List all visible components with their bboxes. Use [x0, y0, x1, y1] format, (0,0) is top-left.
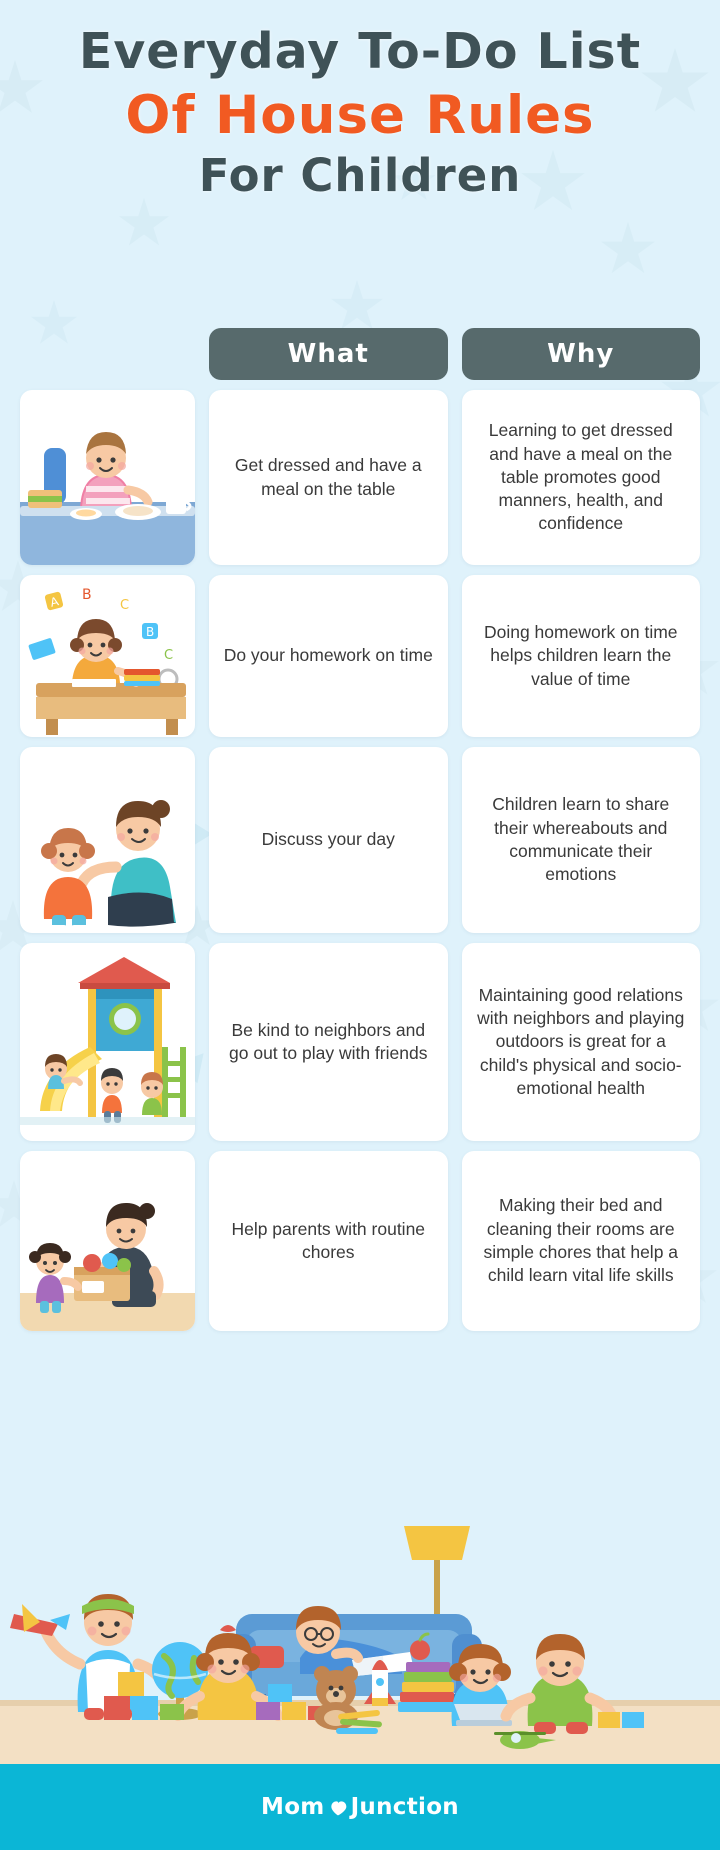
- title-line-2: Of House Rules: [0, 88, 720, 144]
- brand-name-part2: Junction: [351, 1794, 459, 1820]
- table-row: A B C B C: [0, 575, 720, 737]
- table-row: Get dressed and have a meal on the table…: [0, 390, 720, 565]
- children-playing-in-living-room-illustration: [0, 1464, 720, 1764]
- table-row: Be kind to neighbors and go out to play …: [0, 943, 720, 1141]
- row-illustration-child-helping-with-chores: [20, 1151, 195, 1331]
- star-decoration-icon: [600, 222, 656, 278]
- svg-text:C: C: [120, 598, 129, 613]
- table-header-row: What Why: [0, 328, 720, 380]
- what-cell: Be kind to neighbors and go out to play …: [209, 943, 448, 1141]
- brand-name-part1: Mom: [261, 1794, 325, 1820]
- svg-text:B: B: [82, 587, 92, 603]
- why-cell: Making their bed and cleaning their room…: [462, 1151, 701, 1331]
- why-cell: Learning to get dressed and have a meal …: [462, 390, 701, 565]
- svg-text:B: B: [146, 625, 154, 639]
- table-row: Discuss your day Children learn to share…: [0, 747, 720, 933]
- column-header-why: Why: [462, 328, 701, 380]
- what-cell: Do your homework on time: [209, 575, 448, 737]
- why-cell: Children learn to share their whereabout…: [462, 747, 701, 933]
- why-cell: Doing homework on time helps children le…: [462, 575, 701, 737]
- what-cell: Get dressed and have a meal on the table: [209, 390, 448, 565]
- rules-table: What Why: [0, 328, 720, 1331]
- infographic-page: Everyday To-Do List Of House Rules For C…: [0, 0, 720, 1850]
- row-illustration-mother-talking-with-daughter: [20, 747, 195, 933]
- what-cell: Discuss your day: [209, 747, 448, 933]
- what-cell: Help parents with routine chores: [209, 1151, 448, 1331]
- table-row: Help parents with routine chores Making …: [0, 1151, 720, 1331]
- title-line-1: Everyday To-Do List: [0, 26, 720, 78]
- column-header-what: What: [209, 328, 448, 380]
- heart-icon: [328, 1798, 348, 1818]
- brand-logo: Mom Junction: [261, 1794, 459, 1820]
- star-decoration-icon: [118, 198, 170, 250]
- why-cell: Maintaining good relations with neighbor…: [462, 943, 701, 1141]
- row-illustration-boy-eating-breakfast: [20, 390, 195, 565]
- row-illustration-children-on-playground-slide: [20, 943, 195, 1141]
- page-title: Everyday To-Do List Of House Rules For C…: [0, 26, 720, 200]
- svg-text:C: C: [164, 648, 173, 663]
- title-line-3: For Children: [0, 152, 720, 200]
- footer-brand-band: Mom Junction: [0, 1764, 720, 1850]
- row-illustration-girl-doing-homework: A B C B C: [20, 575, 195, 737]
- star-decoration-icon: [330, 280, 384, 334]
